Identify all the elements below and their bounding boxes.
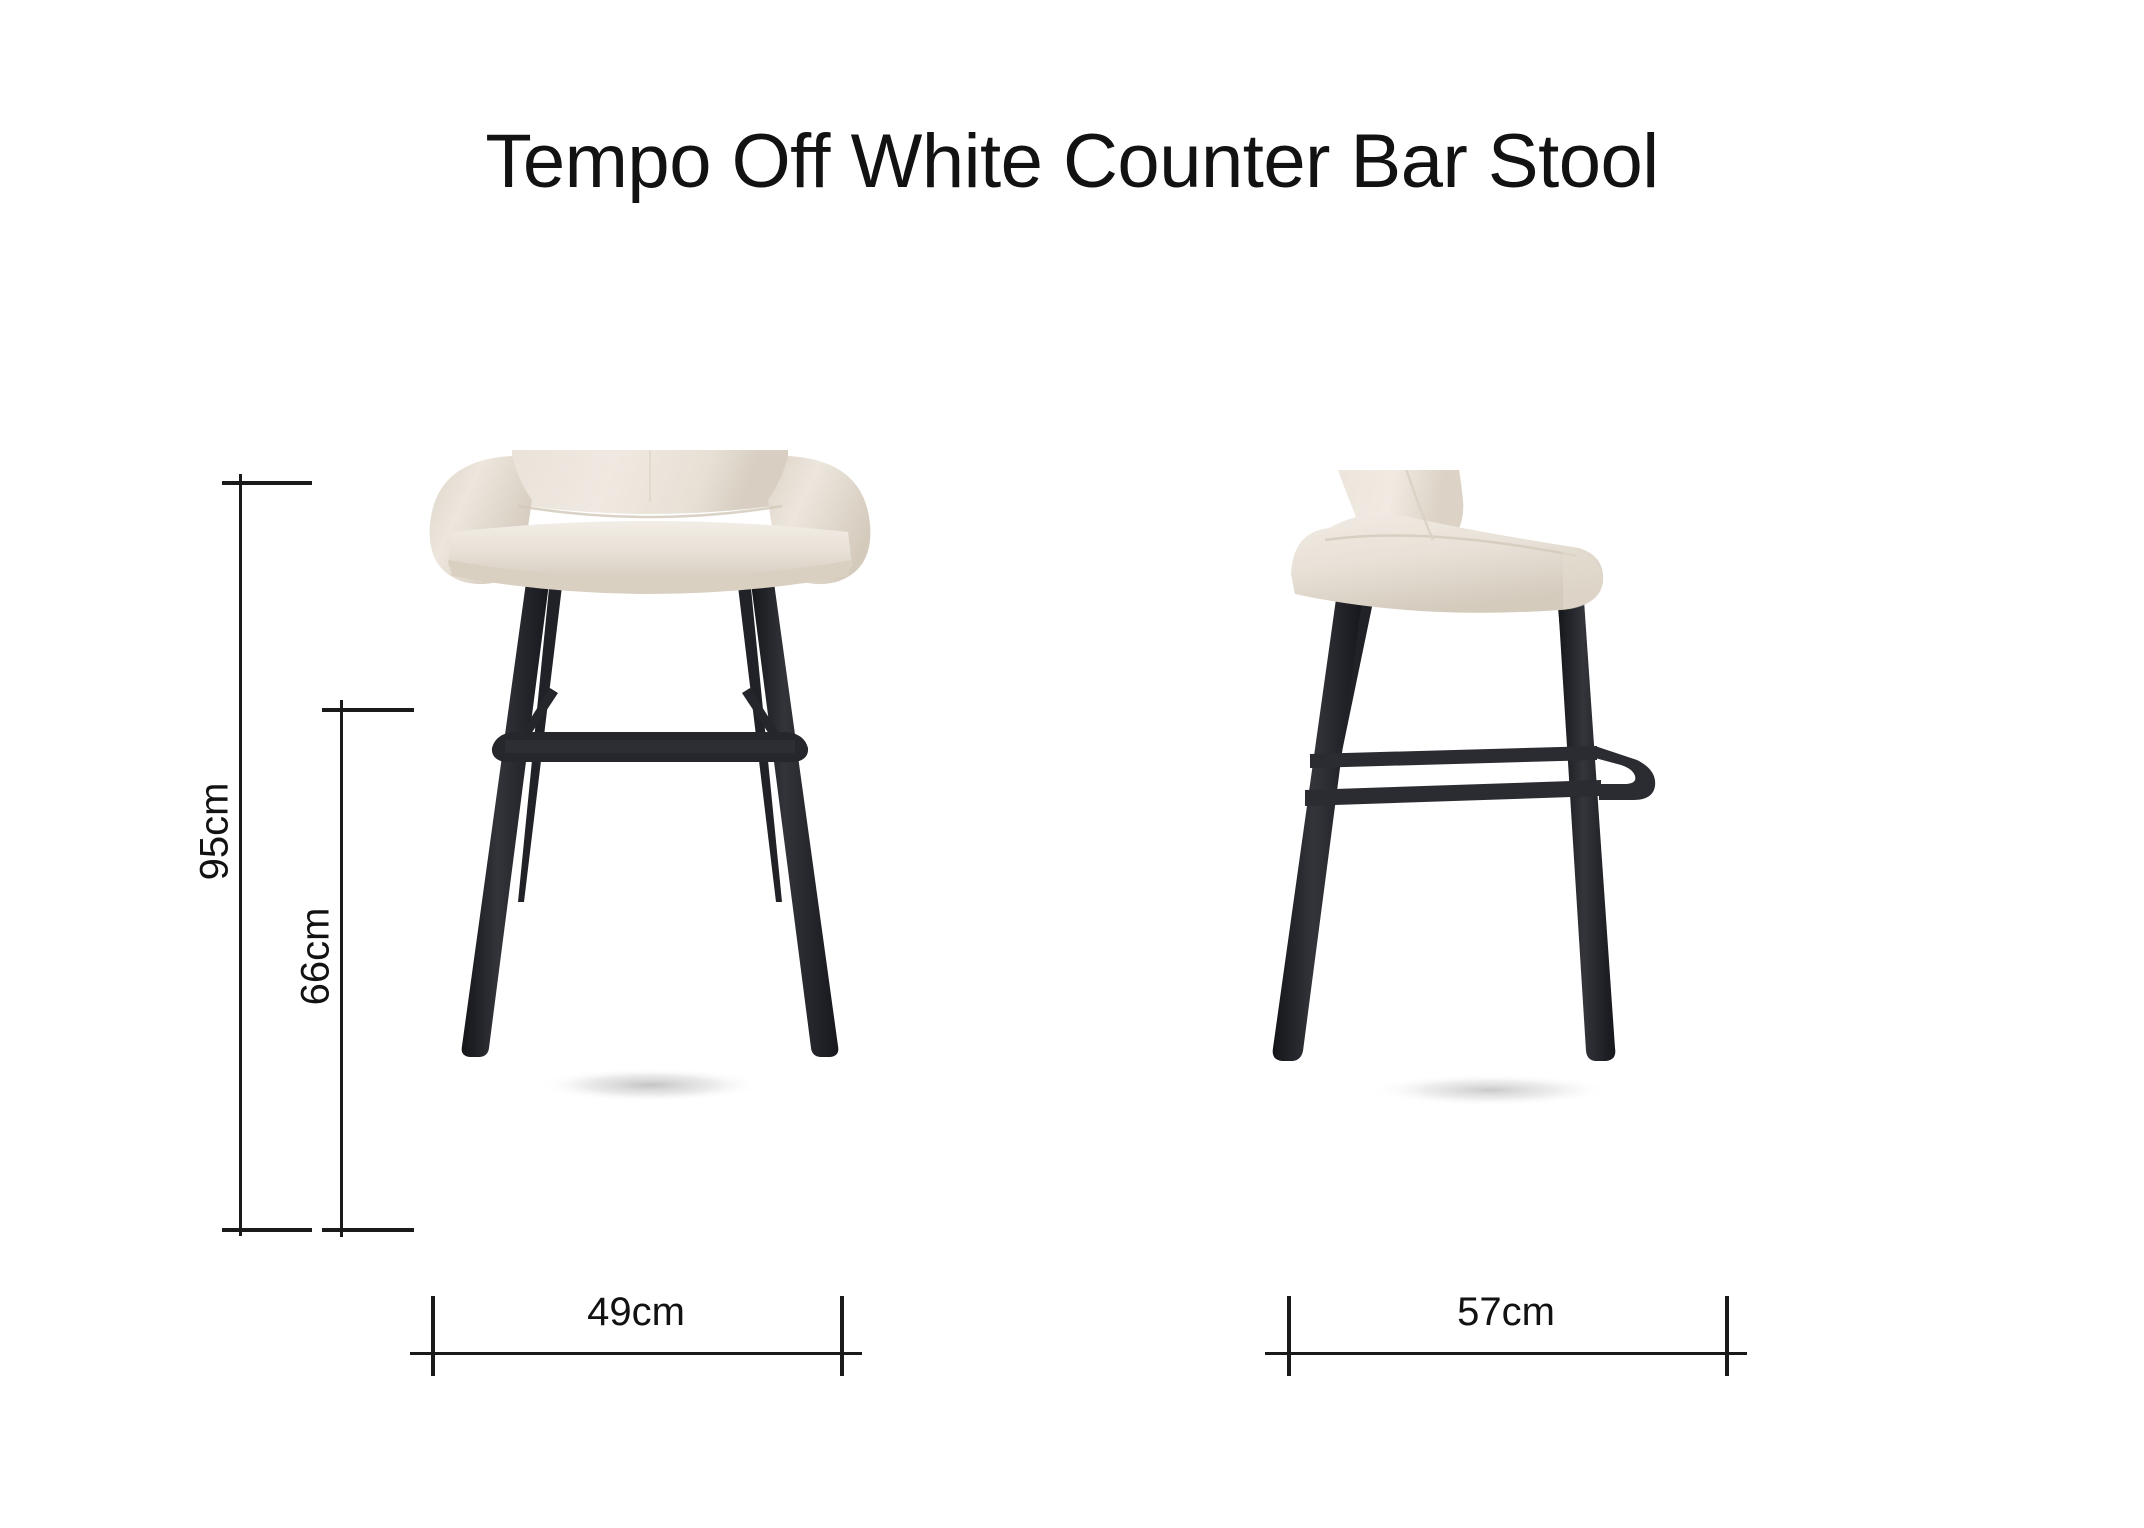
front-left-leg [462,568,551,1057]
front-right-leg [749,568,838,1057]
footrest-loop [1595,746,1655,800]
side-rear-leg [1557,586,1615,1061]
side-front-leg [1273,592,1363,1061]
page-title: Tempo Off White Counter Bar Stool [0,118,2144,205]
side-depth-label: 57cm [1290,1290,1722,1335]
diagram-canvas: Tempo Off White Counter Bar Stool [0,0,2144,1528]
overall-height-dimension-line [239,474,242,1236]
front-width-label: 49cm [435,1290,837,1335]
front-view-chair-illustration [400,450,900,1240]
floor-shadow [538,1068,762,1102]
seat-height-label: 66cm [294,897,339,1017]
side-view-chair-illustration [1265,470,1735,1240]
footrest-lower-bar [1305,780,1601,806]
footrest-upper-bar [1310,746,1597,768]
front-width-right-extension [840,1296,844,1376]
seat-and-arm [1291,514,1603,613]
seat-height-dimension-line [340,700,343,1237]
overall-height-top-extension [222,481,312,485]
floor-shadow [1370,1074,1610,1106]
overall-height-bottom-extension [222,1228,312,1232]
seat-height-bottom-extension [322,1228,414,1232]
side-depth-right-extension [1725,1296,1729,1376]
seat-height-top-extension [322,708,414,712]
overall-height-label: 95cm [193,772,238,892]
front-width-dimension-line [410,1352,862,1355]
side-depth-dimension-line [1265,1352,1747,1355]
